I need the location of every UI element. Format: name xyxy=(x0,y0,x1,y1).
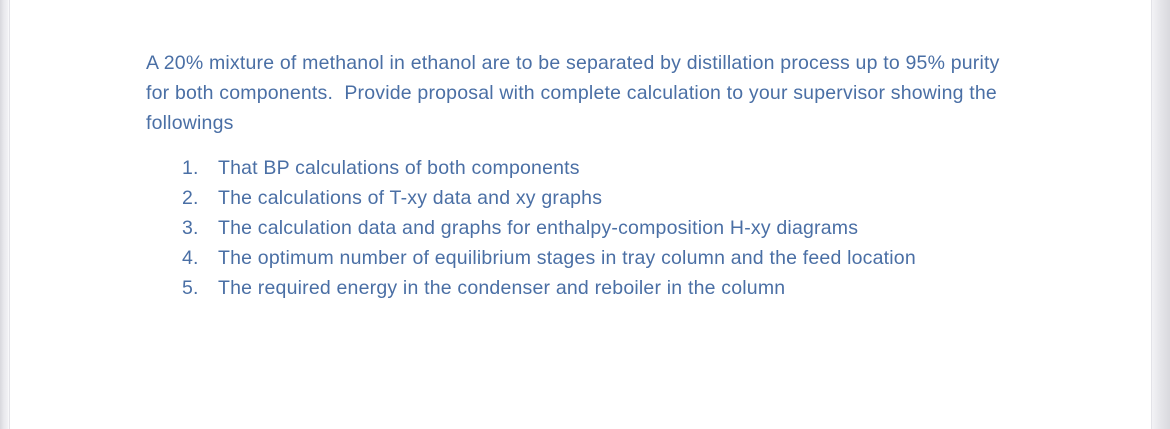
page-content: A 20% mixture of methanol in ethanol are… xyxy=(146,48,1026,303)
list-item-label: That BP calculations of both components xyxy=(218,153,1026,183)
list-item-marker: 2. xyxy=(182,183,218,213)
list-item-label: The calculation data and graphs for enth… xyxy=(218,213,1026,243)
list-item: 1. That BP calculations of both componen… xyxy=(146,153,1026,183)
list-item: 3. The calculation data and graphs for e… xyxy=(146,213,1026,243)
list-item: 4. The optimum number of equilibrium sta… xyxy=(146,243,1026,273)
list-item: 5. The required energy in the condenser … xyxy=(146,273,1026,303)
list-item-marker: 4. xyxy=(182,243,218,273)
intro-paragraph: A 20% mixture of methanol in ethanol are… xyxy=(146,48,1006,138)
requirements-list: 1. That BP calculations of both componen… xyxy=(146,153,1026,303)
list-item-label: The required energy in the condenser and… xyxy=(218,273,1026,303)
list-item-marker: 3. xyxy=(182,213,218,243)
list-item-label: The calculations of T-xy data and xy gra… xyxy=(218,183,1026,213)
list-item-marker: 1. xyxy=(182,153,218,183)
document-page: A 20% mixture of methanol in ethanol are… xyxy=(9,0,1152,429)
list-item-marker: 5. xyxy=(182,273,218,303)
document-viewer[interactable]: A 20% mixture of methanol in ethanol are… xyxy=(0,0,1170,429)
list-item-label: The optimum number of equilibrium stages… xyxy=(218,243,1026,273)
list-item: 2. The calculations of T-xy data and xy … xyxy=(146,183,1026,213)
